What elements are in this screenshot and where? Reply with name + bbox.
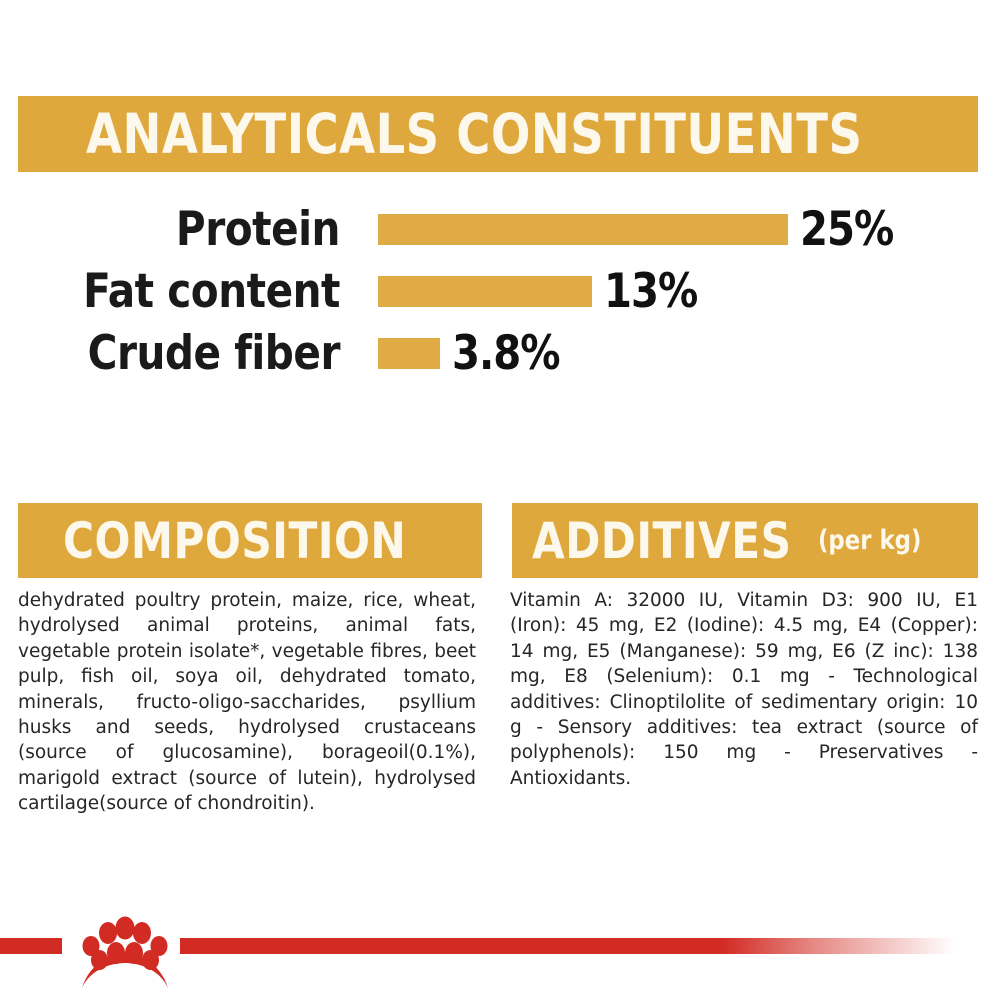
royal-canin-crown-icon <box>68 906 180 992</box>
chart-bar-wrap-fat-content: 13% <box>378 268 702 315</box>
nutrition-info-panel: ANALYTICALS CONSTITUENTS Protein 25% Fat… <box>0 0 1000 1000</box>
chart-label-protein: Protein <box>14 206 340 253</box>
additives-title-suffix: (per kg) <box>818 527 921 554</box>
additives-text: Vitamin A: 32000 IU, Vitamin D3: 900 IU,… <box>510 588 978 791</box>
composition-title: COMPOSITION <box>63 516 406 566</box>
chart-value-protein: 25% <box>800 206 893 253</box>
chart-bar-fat-content <box>378 276 592 307</box>
chart-bar-wrap-protein: 25% <box>378 206 898 253</box>
chart-bar-wrap-crude-fiber: 3.8% <box>378 330 565 377</box>
composition-text: dehydrated poultry protein, maize, rice,… <box>18 588 476 817</box>
footer-rule-left <box>0 938 62 954</box>
footer-rule-right <box>180 938 955 954</box>
additives-banner: ADDITIVES (per kg) <box>512 503 978 578</box>
chart-value-crude-fiber: 3.8% <box>452 330 560 377</box>
analyticals-constituents-banner: ANALYTICALS CONSTITUENTS <box>18 96 978 172</box>
chart-row-fat-content: Fat content 13% <box>0 260 1000 322</box>
analyticals-bar-chart: Protein 25% Fat content 13% Crude fiber … <box>0 198 1000 388</box>
chart-value-fat-content: 13% <box>604 268 697 315</box>
chart-bar-protein <box>378 214 788 245</box>
composition-banner: COMPOSITION <box>18 503 482 578</box>
chart-row-crude-fiber: Crude fiber 3.8% <box>0 322 1000 384</box>
chart-row-protein: Protein 25% <box>0 198 1000 260</box>
chart-bar-crude-fiber <box>378 338 440 369</box>
chart-label-crude-fiber: Crude fiber <box>14 330 340 377</box>
analyticals-constituents-title: ANALYTICALS CONSTITUENTS <box>86 107 862 162</box>
chart-label-fat-content: Fat content <box>14 268 340 315</box>
additives-title: ADDITIVES <box>532 516 792 566</box>
footer-brand-bar <box>0 900 1000 1000</box>
